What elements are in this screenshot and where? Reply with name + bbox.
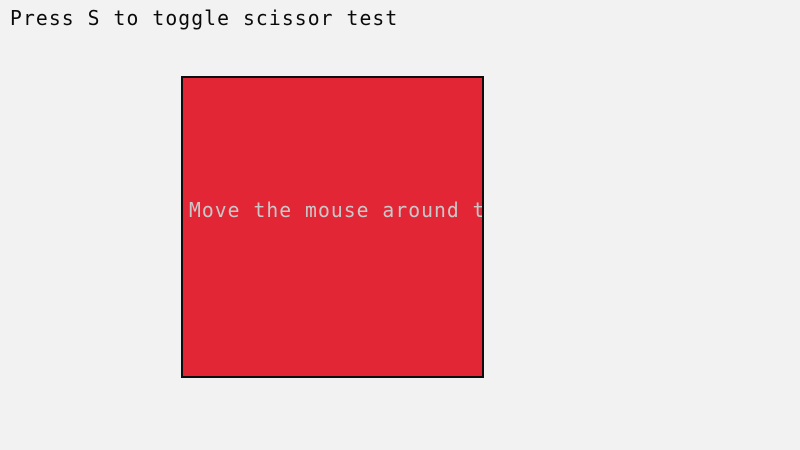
scissor-rectangle[interactable]: Move the mouse around to reveal — [181, 76, 484, 378]
clipped-message-text: Move the mouse around to reveal — [189, 199, 484, 221]
instruction-text: Press S to toggle scissor test — [10, 7, 398, 29]
app-window: Press S to toggle scissor test Move the … — [0, 0, 800, 450]
